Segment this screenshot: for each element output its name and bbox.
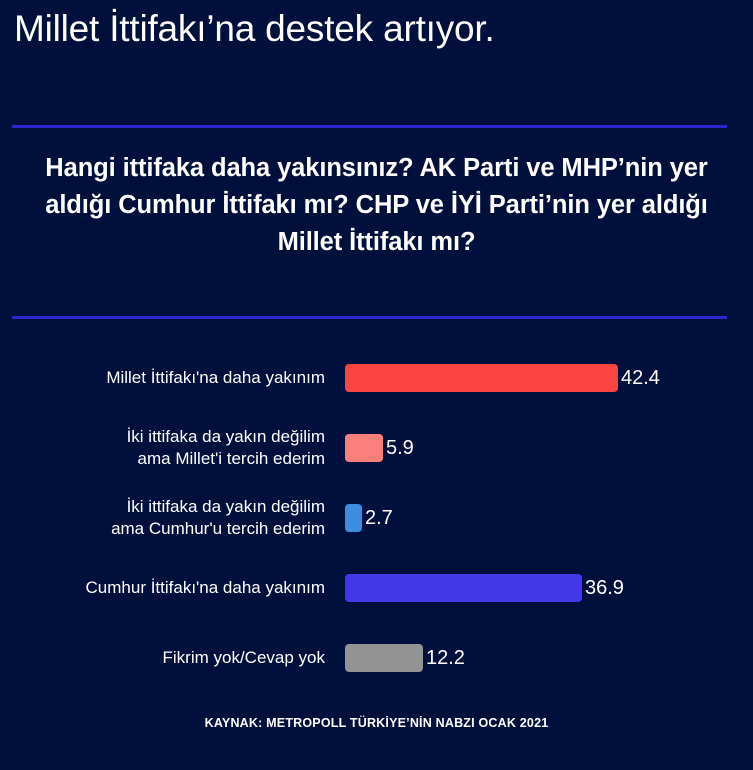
bar-area: 12.2 [345,644,753,672]
bar-area: 5.9 [345,434,753,462]
divider-bottom [12,316,727,319]
bar-chart: Millet İttifakı'na daha yakınım 42.4 İki… [0,348,753,698]
bar-label: İki ittifaka da yakın değilim ama Millet… [0,426,345,470]
bar-row: Fikrim yok/Cevap yok 12.2 [0,628,753,688]
bar-area: 2.7 [345,504,753,532]
question-block: Hangi ittifaka daha yakınsınız? AK Parti… [0,150,753,261]
title-block: Millet İttifakı’na destek artıyor. [0,0,753,108]
source-caption: KAYNAK: METROPOLL TÜRKİYE’NİN NABZI OCAK… [0,716,753,730]
bar-label: İki ittifaka da yakın değilim ama Cumhur… [0,496,345,540]
bar-row: İki ittifaka da yakın değilim ama Cumhur… [0,488,753,548]
page-title: Millet İttifakı’na destek artıyor. [14,10,739,49]
bar-value: 36.9 [585,577,624,600]
bar-area: 42.4 [345,364,753,392]
poll-question: Hangi ittifaka daha yakınsınız? AK Parti… [18,150,735,261]
bar-value: 12.2 [426,647,465,670]
bar-area: 36.9 [345,574,753,602]
bar-fikrim-yok [345,644,423,672]
bar-value: 2.7 [365,507,393,530]
bar-row: Cumhur İttifakı'na daha yakınım 36.9 [0,558,753,618]
divider-top [12,125,727,128]
bar-row: İki ittifaka da yakın değilim ama Millet… [0,418,753,478]
bar-cumhur-yakin [345,574,582,602]
bar-millet-tercih [345,434,383,462]
bar-label: Fikrim yok/Cevap yok [0,647,345,669]
bar-value: 5.9 [386,437,414,460]
infographic-poll-card: Millet İttifakı’na destek artıyor. Hangi… [0,0,753,770]
bar-label: Cumhur İttifakı'na daha yakınım [0,577,345,599]
bar-value: 42.4 [621,367,660,390]
bar-row: Millet İttifakı'na daha yakınım 42.4 [0,348,753,408]
bar-label: Millet İttifakı'na daha yakınım [0,367,345,389]
bar-millet-yakin [345,364,618,392]
bar-cumhur-tercih [345,504,362,532]
